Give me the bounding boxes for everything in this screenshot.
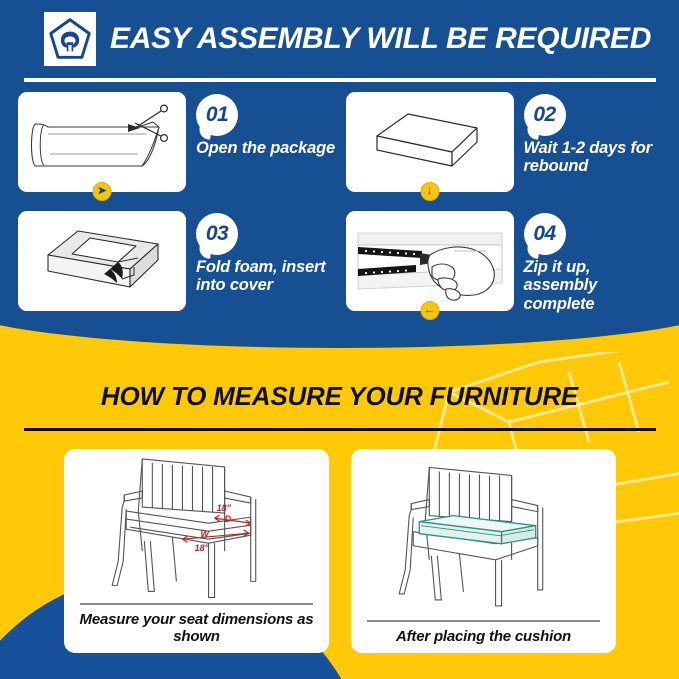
foam-inserted-into-cover-icon [18,211,186,311]
step-01-arrow-right-icon: ➤ [93,182,112,201]
step-01-number-badge: 01 [196,94,238,136]
step-01-label: Open the package [196,139,335,157]
page-title: EASY ASSEMBLY WILL BE REQUIRED [110,24,651,54]
step-02-figure-card: ↓ [346,92,514,192]
measure-section-divider [24,428,656,431]
panel-2-figure [351,449,616,620]
panel-1-caption: Measure your seat dimensions as shown [64,605,329,653]
rolled-package-with-scissors-icon [18,92,186,192]
step-03-label: Fold foam, insert into cover [196,258,336,295]
svg-text:18": 18" [194,543,209,553]
step-02-label: Wait 1-2 days for rebound [524,139,664,176]
step-04-figure-card: ← [346,211,514,311]
header-divider [24,78,656,82]
chair-with-teal-cushion-icon [351,449,616,620]
step-04-label: Zip it up, assembly complete [524,258,664,313]
measure-panels: 18" D W 18" Measure your seat dimensions… [64,449,616,653]
step-02-arrow-down-icon: ↓ [420,182,439,201]
svg-text:D: D [225,514,232,524]
assembly-step-01: ➤ 01 Open the package [18,92,336,199]
assembly-steps-grid: ➤ 01 Open the package [18,92,663,318]
step-04-number-badge: 04 [524,213,566,255]
assembly-step-02: ↓ 02 Wait 1-2 days for rebound [346,92,664,199]
svg-text:18": 18" [217,503,232,513]
step-01-figure-card: ➤ [18,92,186,192]
step-03-figure-card [18,211,186,311]
panel-1-figure: 18" D W 18" [64,449,329,603]
assembly-header: EASY ASSEMBLY WILL BE REQUIRED [44,10,644,68]
assembly-step-04: ← 04 Zip it up, assembly complete [346,211,664,318]
assembly-section: EASY ASSEMBLY WILL BE REQUIRED [0,0,679,348]
measure-panel-cushion: After placing the cushion [351,449,616,653]
infographic-page: EASY ASSEMBLY WILL BE REQUIRED [0,0,679,679]
house-pentagon-logo-icon [44,12,96,66]
chair-with-dimension-callouts-icon: 18" D W 18" [64,449,329,603]
flat-foam-slab-icon [346,92,514,192]
step-03-number-badge: 03 [196,213,238,255]
panel-2-caption: After placing the cushion [351,622,616,653]
step-04-arrow-left-icon: ← [420,301,439,320]
measure-section-title: HOW TO MEASURE YOUR FURNITURE [0,381,679,412]
assembly-step-03: 03 Fold foam, insert into cover [18,211,336,318]
svg-text:W: W [201,529,211,539]
measure-panel-dimensions: 18" D W 18" Measure your seat dimensions… [64,449,329,653]
step-02-number-badge: 02 [524,94,566,136]
hand-zipping-cushion-icon [346,211,514,311]
